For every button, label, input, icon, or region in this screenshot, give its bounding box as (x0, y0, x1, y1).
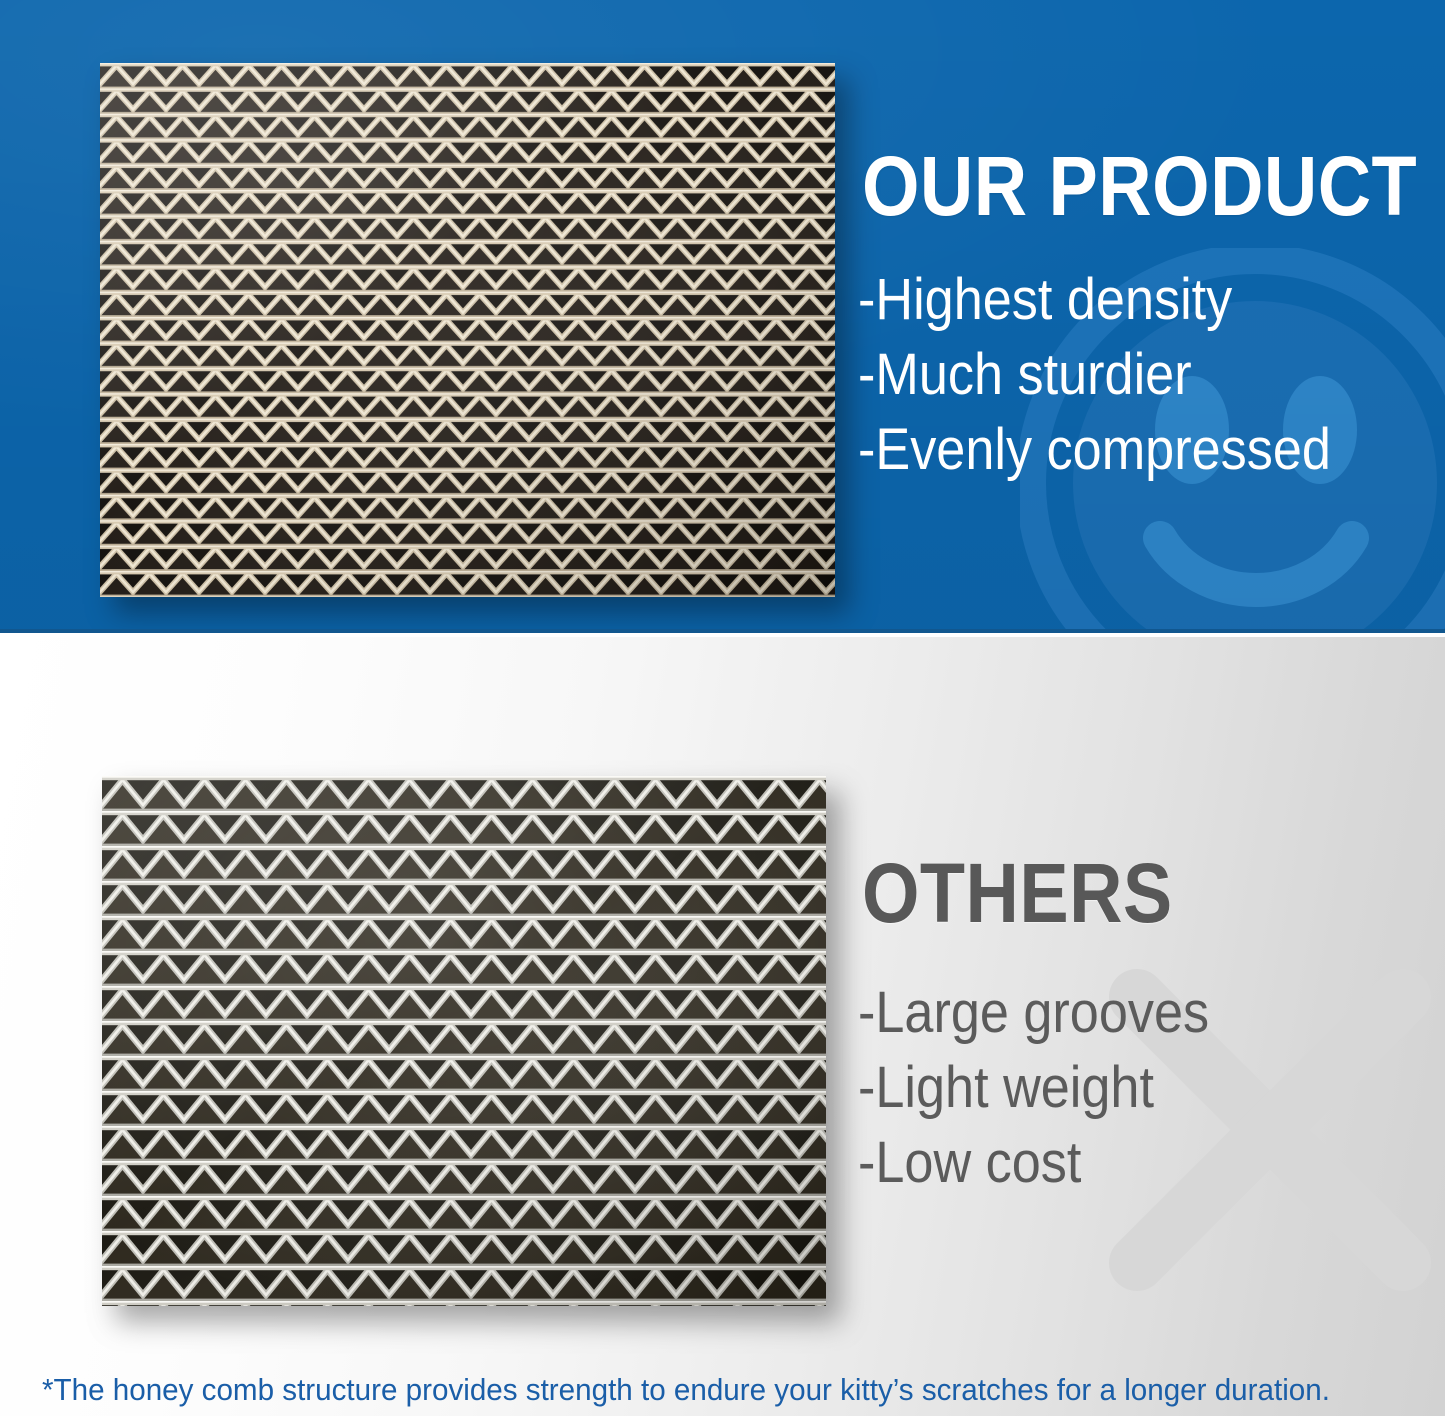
our-product-panel: OUR PRODUCT -Highest density -Much sturd… (0, 0, 1445, 633)
our-product-feature-list: -Highest density -Much sturdier -Evenly … (858, 262, 1383, 487)
infographic-root: OUR PRODUCT -Highest density -Much sturd… (0, 0, 1445, 1416)
list-item: -Highest density (858, 262, 1331, 337)
others-image (102, 776, 826, 1306)
footnote-text: *The honey comb structure provides stren… (42, 1370, 1360, 1410)
list-item: -Low cost (858, 1125, 1209, 1200)
our-product-title: OUR PRODUCT (862, 144, 1417, 228)
our-product-image (100, 63, 835, 597)
list-item: -Large grooves (858, 975, 1209, 1050)
list-item: -Much sturdier (858, 337, 1331, 412)
others-title: OTHERS (862, 851, 1173, 935)
panel-divider (0, 629, 1445, 633)
list-item: -Light weight (858, 1050, 1209, 1125)
list-item: -Evenly compressed (858, 412, 1331, 487)
others-feature-list: -Large grooves -Light weight -Low cost (858, 975, 1248, 1200)
